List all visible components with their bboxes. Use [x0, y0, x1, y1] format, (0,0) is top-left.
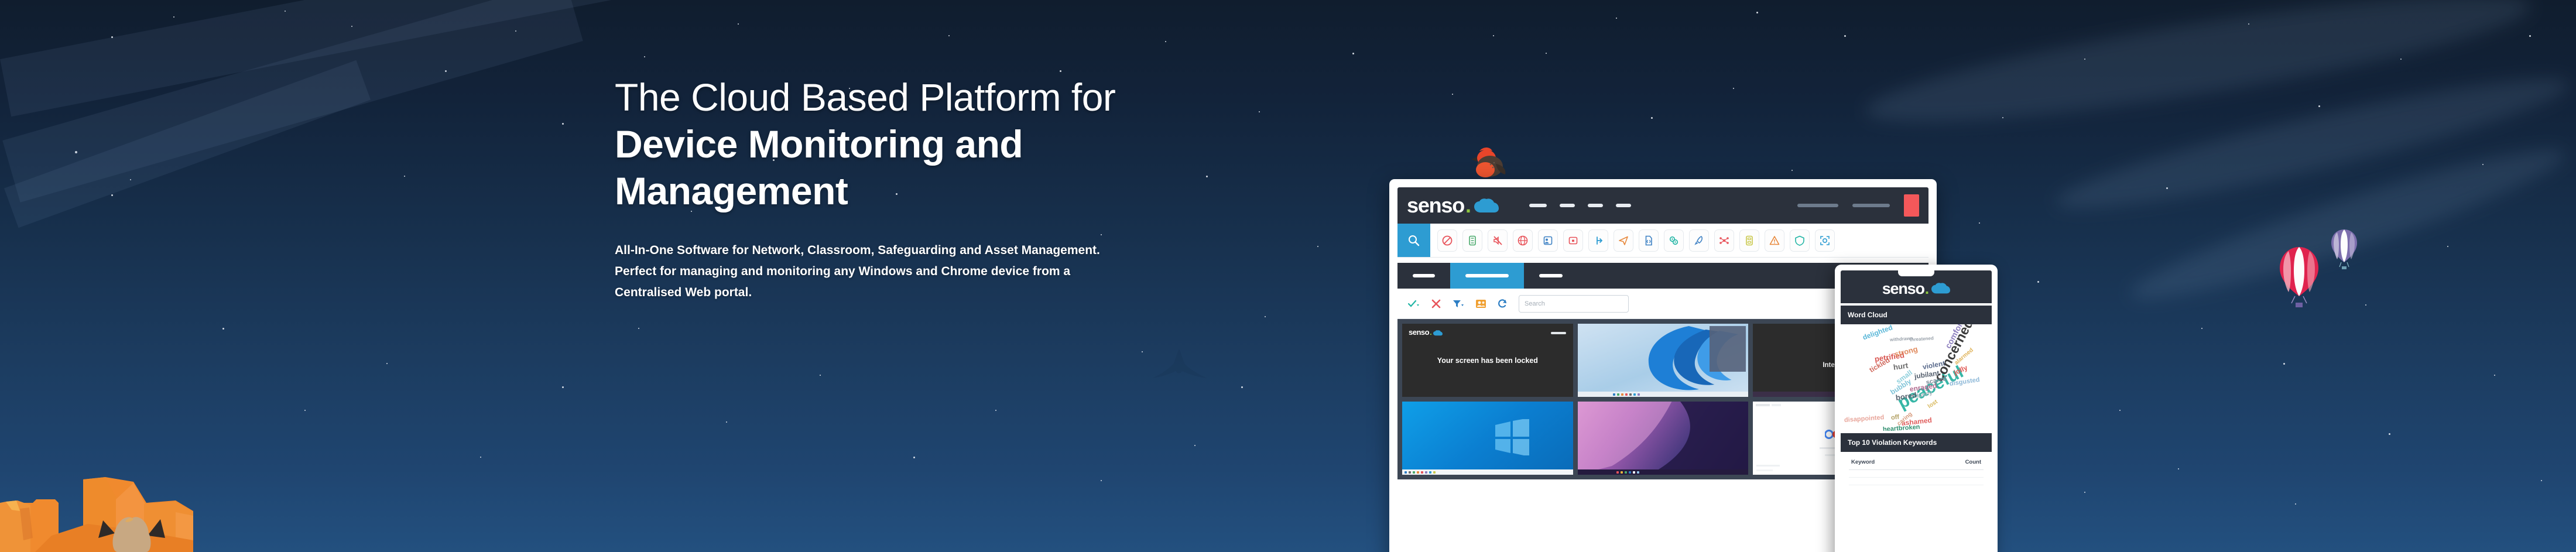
star	[1060, 70, 1061, 72]
star	[1651, 117, 1653, 119]
word-cloud-term: disappointed	[1844, 414, 1885, 424]
table-header-row: Keyword Count	[1849, 452, 1984, 470]
block-icon[interactable]	[1437, 229, 1457, 252]
globe-icon[interactable]	[1513, 229, 1533, 252]
toolbar-icon-list	[1430, 224, 1928, 257]
star	[948, 35, 950, 36]
star	[111, 194, 113, 196]
star	[2201, 328, 2202, 329]
star	[913, 457, 915, 458]
star	[1493, 35, 1494, 36]
tab-1[interactable]	[1397, 263, 1450, 289]
cloud-icon	[1474, 198, 1499, 214]
send-icon[interactable]	[1614, 229, 1633, 252]
star	[638, 328, 639, 329]
header-placeholder-1[interactable]	[1797, 204, 1838, 207]
windows-logo-icon	[1494, 419, 1530, 455]
focus-icon[interactable]	[1815, 229, 1835, 252]
star	[995, 410, 996, 411]
headline-line-1: The Cloud Based Platform for	[615, 77, 1270, 118]
nav-placeholder-4[interactable]	[1616, 204, 1631, 207]
star	[644, 56, 645, 57]
word-cloud-term: delighted	[1862, 324, 1894, 342]
senso-logo[interactable]: senso .	[1882, 282, 1951, 296]
user-screen-icon[interactable]	[1538, 229, 1558, 252]
word-cloud-chart: peacefulconcernedcomfortablepetrifieddel…	[1841, 324, 1992, 431]
star	[1979, 222, 1980, 224]
mini-brand-word: senso	[1409, 329, 1429, 336]
subcopy-line-3: Centralised Web portal.	[615, 282, 1270, 303]
star	[2283, 363, 2285, 365]
star	[2494, 375, 2495, 376]
table-row[interactable]	[1849, 470, 1984, 478]
headline-line-2: Device Monitoring and	[615, 124, 1270, 165]
nebula-clouds	[0, 0, 2576, 165]
word-cloud-panel-title: Word Cloud	[1841, 306, 1992, 324]
tab-3[interactable]	[1524, 263, 1578, 289]
star	[562, 386, 564, 388]
chromeos-wallpaper	[1578, 402, 1749, 475]
purple-hot-air-balloon	[2330, 228, 2358, 270]
locked-screen-message: Your screen has been locked	[1437, 356, 1538, 365]
thumbnail-chromeos-desktop[interactable]	[1578, 402, 1749, 475]
cloud-icon	[1433, 330, 1443, 336]
stop-icon[interactable]	[1563, 229, 1583, 252]
star	[404, 176, 405, 177]
hero-banner: The Cloud Based Platform for Device Moni…	[0, 0, 2576, 552]
tab-2-active[interactable]	[1450, 263, 1524, 289]
warning-icon[interactable]	[1765, 229, 1784, 252]
star	[304, 410, 306, 411]
headline-line-3: Management	[615, 171, 1270, 212]
star	[562, 123, 564, 125]
violation-keywords-table: Keyword Count	[1841, 452, 1992, 485]
shield-icon[interactable]	[1790, 229, 1810, 252]
check-dropdown-icon[interactable]	[1408, 299, 1420, 308]
star	[2447, 246, 2448, 247]
thumb-placeholder-dash	[1551, 332, 1566, 334]
star	[1756, 12, 1758, 13]
eagle-silhouette-icon	[1147, 345, 1212, 386]
column-header-count: Count	[1965, 459, 1981, 465]
keywords-panel-title: Top 10 Violation Keywords	[1841, 433, 1992, 452]
search-icon[interactable]	[1397, 224, 1430, 257]
senso-logo[interactable]: senso .	[1407, 196, 1499, 215]
star	[222, 328, 224, 330]
filter-dropdown-icon[interactable]	[1453, 299, 1464, 308]
star	[1546, 53, 1547, 54]
tablet-screen: senso . Word Cloud peacefulconcernedcomf…	[1841, 270, 1992, 552]
star	[2119, 410, 2121, 411]
thumbnail-windows10-desktop[interactable]	[1402, 402, 1573, 475]
logout-button[interactable]	[1904, 194, 1919, 217]
brand-dot: .	[1465, 196, 1471, 215]
star	[1142, 351, 1143, 352]
refresh-icon[interactable]	[1498, 299, 1507, 308]
star	[2365, 304, 2366, 306]
star	[173, 16, 174, 18]
star	[2389, 433, 2390, 435]
star	[726, 421, 727, 423]
login-icon[interactable]	[1588, 229, 1608, 252]
chromeos-shelf	[1578, 469, 1749, 475]
users-icon[interactable]	[1476, 299, 1486, 308]
header-placeholder-2[interactable]	[1852, 204, 1890, 207]
word-cloud-term: threatened	[1910, 335, 1934, 342]
star	[1265, 316, 1266, 317]
tablet-notch	[1898, 270, 1934, 276]
subcopy-line-1: All-In-One Software for Network, Classro…	[615, 240, 1270, 261]
brand-dot: .	[1925, 282, 1930, 296]
mini-brand-dot: .	[1430, 329, 1432, 336]
mute-icon[interactable]	[1488, 229, 1508, 252]
nav-placeholder-3[interactable]	[1588, 204, 1603, 207]
star	[820, 375, 821, 376]
mesa-rocks-icon	[0, 365, 269, 552]
star	[1317, 246, 1318, 247]
word-cloud-term: lost	[1927, 399, 1939, 410]
nav-placeholder-2[interactable]	[1560, 204, 1575, 207]
star	[738, 23, 739, 25]
star	[1101, 480, 1102, 481]
server-icon[interactable]	[1739, 229, 1759, 252]
star	[1194, 445, 1195, 446]
cancel-icon[interactable]	[1431, 299, 1441, 308]
windows-taskbar	[1402, 469, 1573, 475]
star	[2529, 35, 2531, 37]
app-header: senso .	[1397, 187, 1928, 224]
tablet-mockup: senso . Word Cloud peacefulconcernedcomf…	[1835, 265, 1998, 552]
windows-taskbar	[1578, 392, 1749, 397]
thumbnail-locked-screen[interactable]: senso . Your screen has been locked	[1402, 324, 1573, 397]
star	[2541, 480, 2542, 481]
star	[1733, 88, 1734, 89]
star	[1241, 386, 1243, 388]
star	[2037, 281, 2039, 283]
star	[2400, 59, 2402, 60]
star	[1791, 170, 1793, 171]
hero-subcopy: All-In-One Software for Network, Classro…	[615, 240, 1270, 303]
star	[1352, 53, 1354, 54]
hero-copy: The Cloud Based Platform for Device Moni…	[615, 77, 1270, 303]
mini-senso-logo: senso .	[1409, 329, 1443, 336]
cloud-icon	[1931, 283, 1950, 294]
subcopy-line-2: Perfect for managing and monitoring any …	[615, 261, 1270, 282]
star	[1844, 35, 1846, 37]
star	[1616, 18, 1617, 19]
star	[386, 363, 388, 364]
device-list-icon[interactable]	[1462, 229, 1482, 252]
feature-toolbar	[1397, 224, 1928, 258]
network-icon[interactable]	[1714, 229, 1734, 252]
header-right-group	[1797, 194, 1919, 217]
star	[1165, 41, 1166, 42]
table-row[interactable]	[1849, 478, 1984, 485]
document-icon[interactable]	[1639, 229, 1659, 252]
nav-placeholder-1[interactable]	[1529, 204, 1547, 207]
brand-wordmark: senso	[1882, 282, 1924, 296]
column-header-keyword: Keyword	[1851, 459, 1875, 465]
tablet-app-header: senso .	[1841, 270, 1992, 303]
red-hot-air-balloon	[2277, 246, 2321, 309]
star	[2178, 468, 2179, 469]
rocket-icon[interactable]	[1689, 229, 1709, 252]
thumbnail-windows11-desktop[interactable]	[1578, 324, 1749, 397]
star	[2295, 503, 2296, 505]
brand-wordmark: senso	[1407, 196, 1464, 215]
star	[1452, 94, 1453, 95]
star	[2318, 105, 2320, 107]
search-input[interactable]: Search	[1519, 295, 1629, 313]
star	[480, 457, 481, 458]
star	[2084, 492, 2085, 493]
word-cloud-term: strong	[1893, 344, 1919, 358]
settings-gears-icon[interactable]	[1664, 229, 1684, 252]
